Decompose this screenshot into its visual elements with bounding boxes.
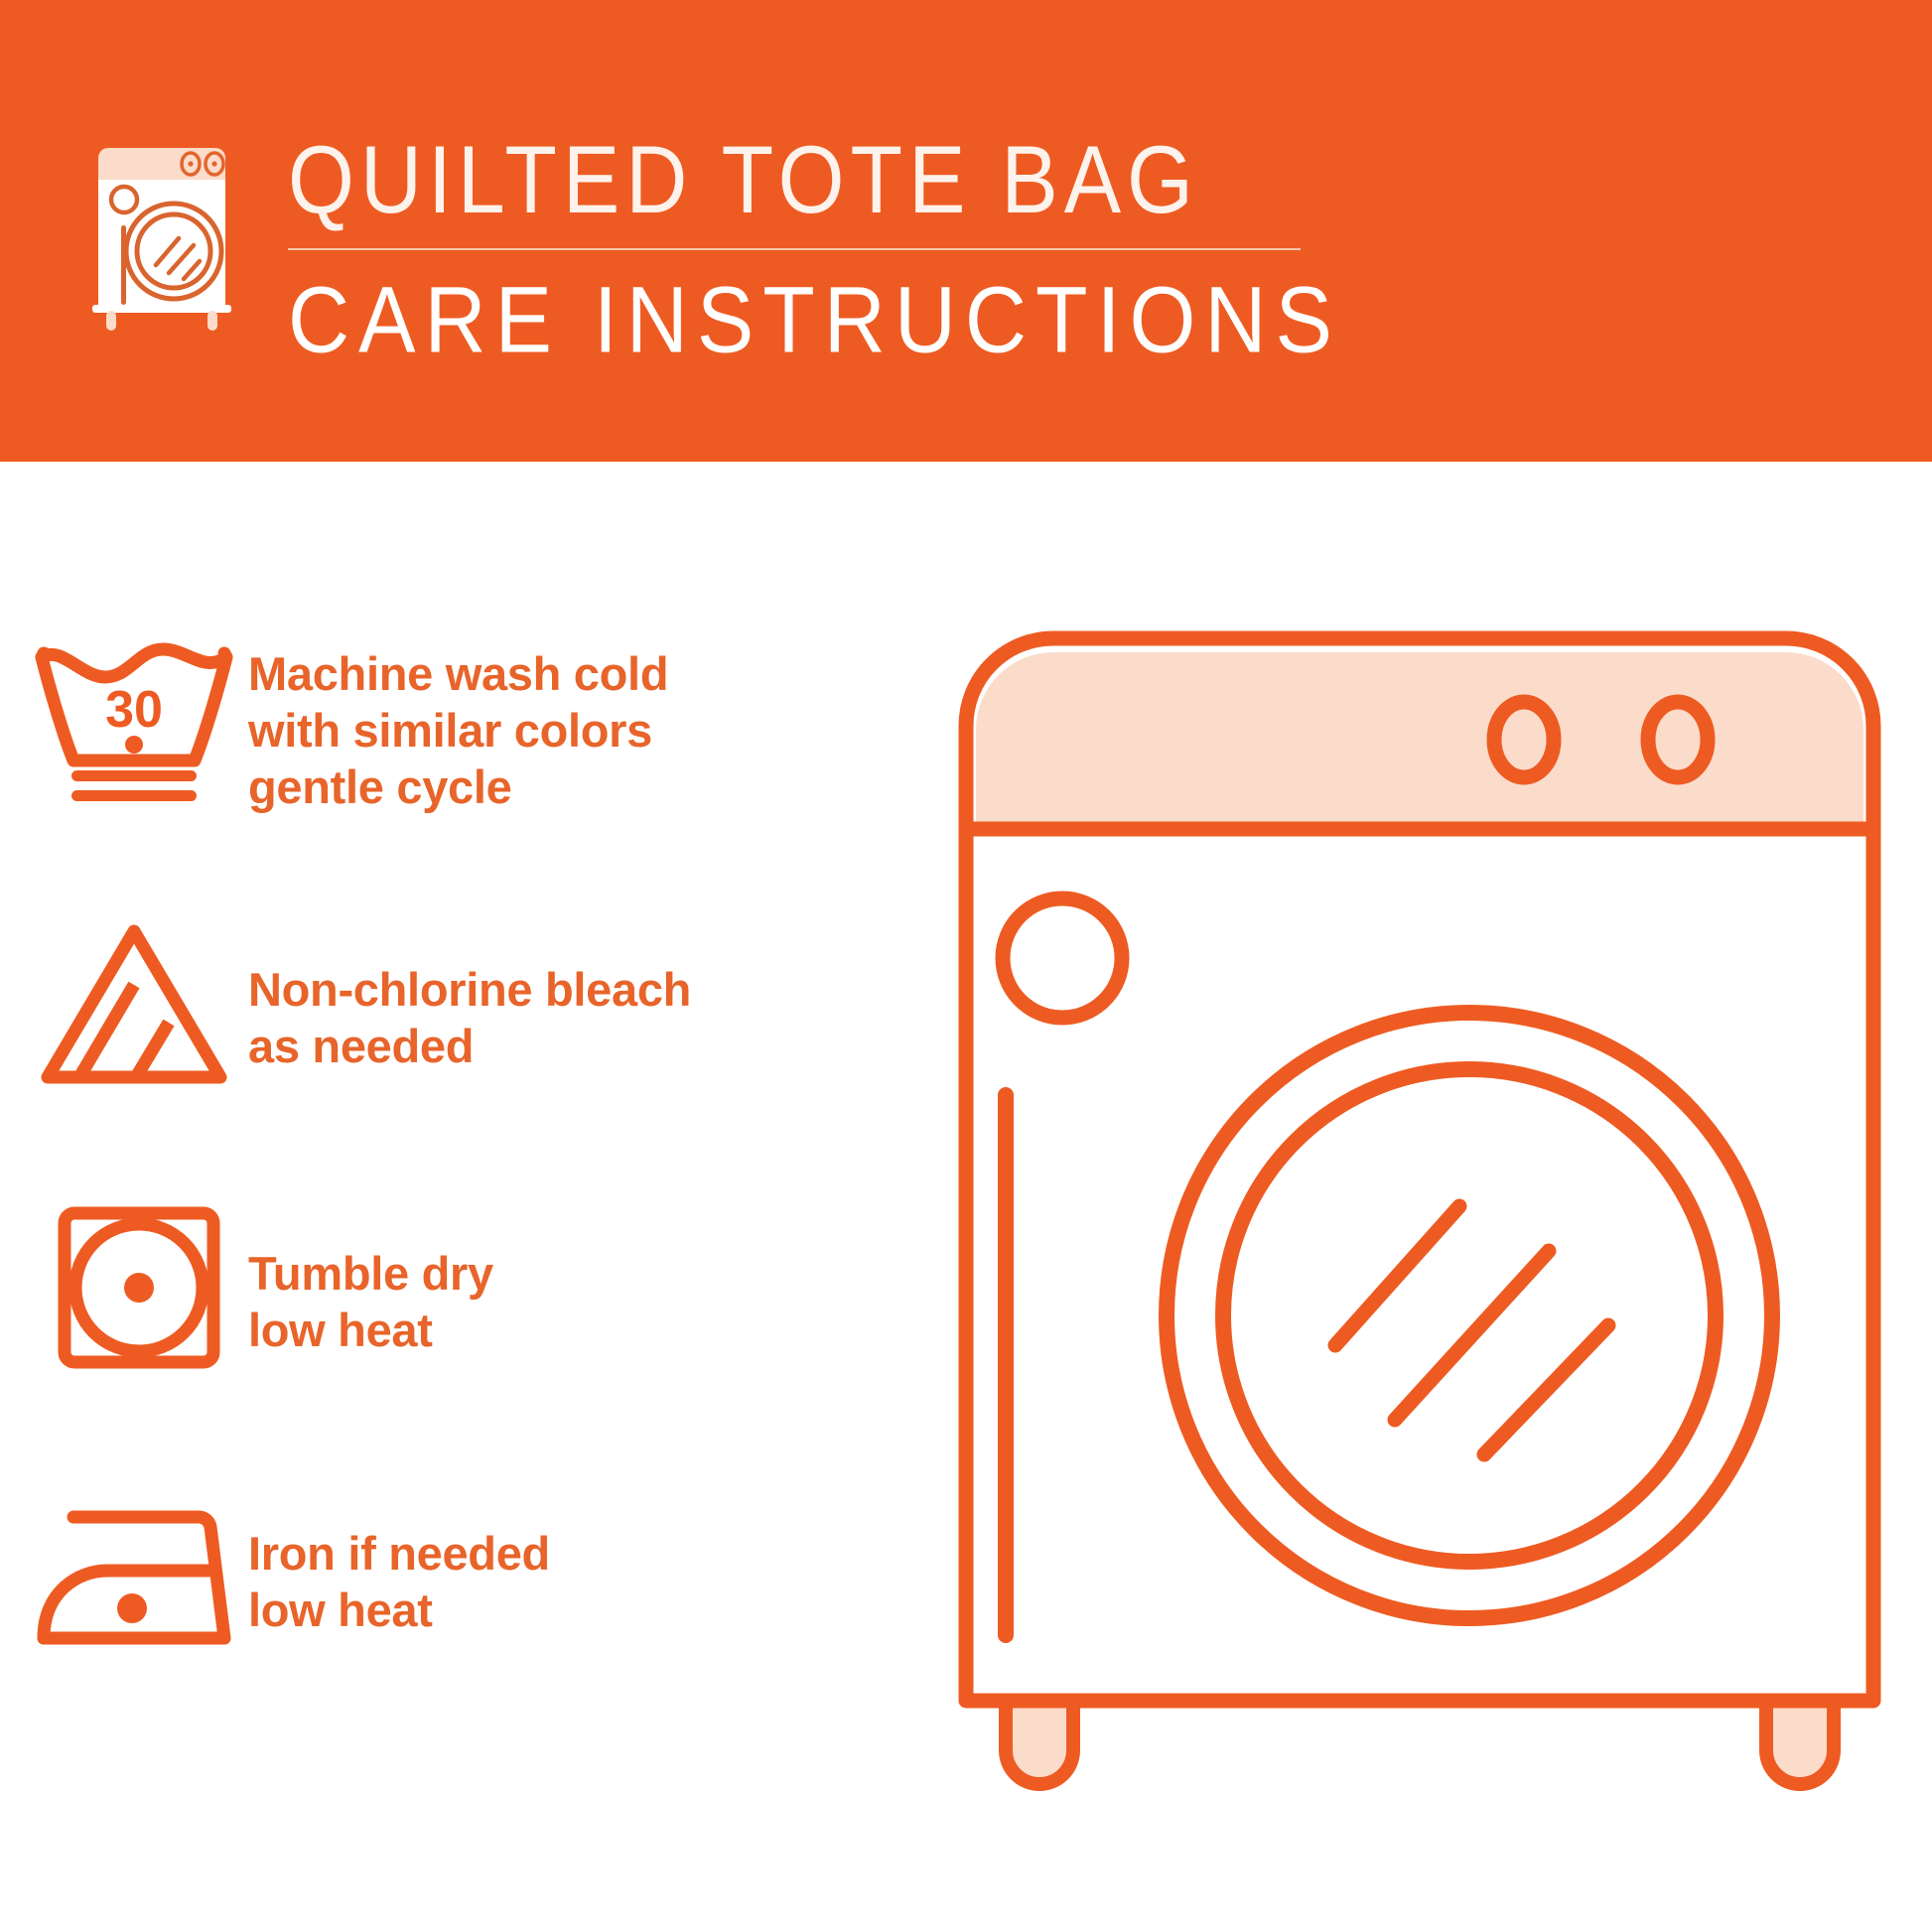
care-line-2: with similar colors xyxy=(248,702,668,759)
wash-basin-30-icon: 30 xyxy=(0,635,248,834)
care-line-2: low heat xyxy=(248,1302,493,1358)
care-text-machine-wash: Machine wash cold with similar colors ge… xyxy=(248,635,668,815)
knob-right xyxy=(1648,702,1708,777)
care-line-1: Iron if needed xyxy=(248,1525,550,1582)
care-text-bleach: Non-chlorine bleach as needed xyxy=(248,913,691,1074)
care-text-tumble-dry: Tumble dry low heat xyxy=(248,1201,493,1358)
care-row-iron: Iron if needed low heat xyxy=(0,1489,953,1688)
title-divider xyxy=(288,248,1301,250)
knob-left xyxy=(1494,702,1554,777)
iron-icon xyxy=(0,1489,248,1688)
control-panel xyxy=(976,652,1863,829)
care-line-3: gentle cycle xyxy=(248,759,668,815)
care-line-1: Machine wash cold xyxy=(248,645,668,702)
page-title: QUILTED TOTE BAG xyxy=(288,127,1320,234)
washing-machine-illustration xyxy=(958,630,1881,1852)
header-banner: QUILTED TOTE BAG CARE INSTRUCTIONS xyxy=(0,0,1932,462)
care-line-2: low heat xyxy=(248,1582,550,1638)
care-row-bleach: Non-chlorine bleach as needed xyxy=(0,913,953,1112)
page-subtitle: CARE INSTRUCTIONS xyxy=(288,268,1320,373)
care-line-1: Non-chlorine bleach xyxy=(248,961,691,1018)
care-line-1: Tumble dry xyxy=(248,1245,493,1302)
care-row-machine-wash: 30 Machine wash cold with similar colors… xyxy=(0,635,953,834)
header-title-group: QUILTED TOTE BAG CARE INSTRUCTIONS xyxy=(288,127,1320,363)
care-row-tumble-dry: Tumble dry low heat xyxy=(0,1201,953,1400)
bleach-triangle-icon xyxy=(0,913,248,1112)
care-text-iron: Iron if needed low heat xyxy=(248,1489,550,1638)
detergent-slot-bar xyxy=(998,1087,1014,1643)
tumble-dry-icon xyxy=(0,1201,248,1400)
care-instructions-poster: QUILTED TOTE BAG CARE INSTRUCTIONS 30 xyxy=(0,0,1932,1932)
care-line-2: as needed xyxy=(248,1018,691,1074)
washing-machine-icon xyxy=(84,134,248,333)
wash-temperature-label: 30 xyxy=(105,681,163,739)
